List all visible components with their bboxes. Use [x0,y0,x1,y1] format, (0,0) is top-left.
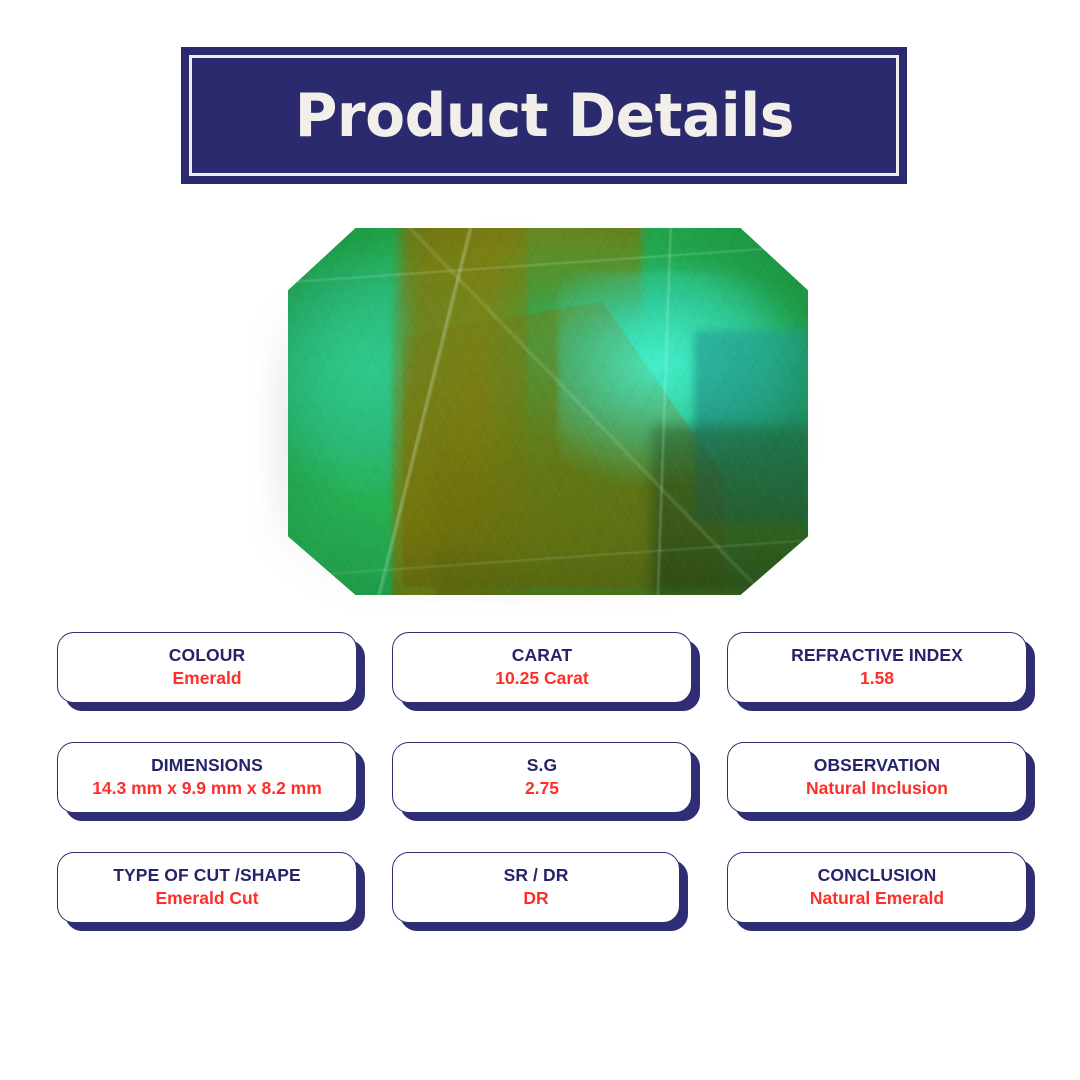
card-value: Emerald Cut [155,888,258,910]
card-label: COLOUR [169,645,245,665]
card-value: 14.3 mm x 9.9 mm x 8.2 mm [92,778,322,800]
card-face: S.G 2.75 [392,742,692,813]
detail-card-type-of-cut[interactable]: TYPE OF CUT /SHAPE Emerald Cut [57,852,357,923]
card-face: CARAT 10.25 Carat [392,632,692,703]
card-value: Natural Emerald [810,888,944,910]
card-value: Emerald [172,668,241,690]
details-row-1: COLOUR Emerald CARAT 10.25 Carat REFRACT… [0,632,1080,742]
emerald-gemstone-image [288,228,808,595]
page-header-banner: Product Details [181,47,907,184]
product-details-grid: COLOUR Emerald CARAT 10.25 Carat REFRACT… [0,632,1080,962]
card-value: 2.75 [525,778,559,800]
detail-card-carat[interactable]: CARAT 10.25 Carat [392,632,692,703]
page-title: Product Details [294,86,793,146]
card-label: SR / DR [504,865,569,885]
card-label: TYPE OF CUT /SHAPE [113,865,301,885]
card-face: CONCLUSION Natural Emerald [727,852,1027,923]
card-label: DIMENSIONS [151,755,263,775]
card-value: Natural Inclusion [806,778,948,800]
card-face: OBSERVATION Natural Inclusion [727,742,1027,813]
card-face: TYPE OF CUT /SHAPE Emerald Cut [57,852,357,923]
details-row-2: DIMENSIONS 14.3 mm x 9.9 mm x 8.2 mm S.G… [0,742,1080,852]
gem-edge-vignette [288,228,808,595]
detail-card-observation[interactable]: OBSERVATION Natural Inclusion [727,742,1027,813]
detail-card-conclusion[interactable]: CONCLUSION Natural Emerald [727,852,1027,923]
card-value: DR [523,888,548,910]
card-label: REFRACTIVE INDEX [791,645,963,665]
detail-card-sr-dr[interactable]: SR / DR DR [392,852,680,923]
card-value: 10.25 Carat [495,668,588,690]
card-face: COLOUR Emerald [57,632,357,703]
card-value: 1.58 [860,668,894,690]
card-label: S.G [527,755,557,775]
card-face: DIMENSIONS 14.3 mm x 9.9 mm x 8.2 mm [57,742,357,813]
detail-card-dimensions[interactable]: DIMENSIONS 14.3 mm x 9.9 mm x 8.2 mm [57,742,357,813]
card-face: SR / DR DR [392,852,680,923]
detail-card-sg[interactable]: S.G 2.75 [392,742,692,813]
detail-card-refractive-index[interactable]: REFRACTIVE INDEX 1.58 [727,632,1027,703]
product-image-stage [0,205,1080,605]
card-label: OBSERVATION [814,755,941,775]
detail-card-colour[interactable]: COLOUR Emerald [57,632,357,703]
banner-inner-border: Product Details [189,55,899,176]
details-row-3: TYPE OF CUT /SHAPE Emerald Cut SR / DR D… [0,852,1080,962]
card-label: CONCLUSION [818,865,937,885]
card-label: CARAT [512,645,572,665]
card-face: REFRACTIVE INDEX 1.58 [727,632,1027,703]
